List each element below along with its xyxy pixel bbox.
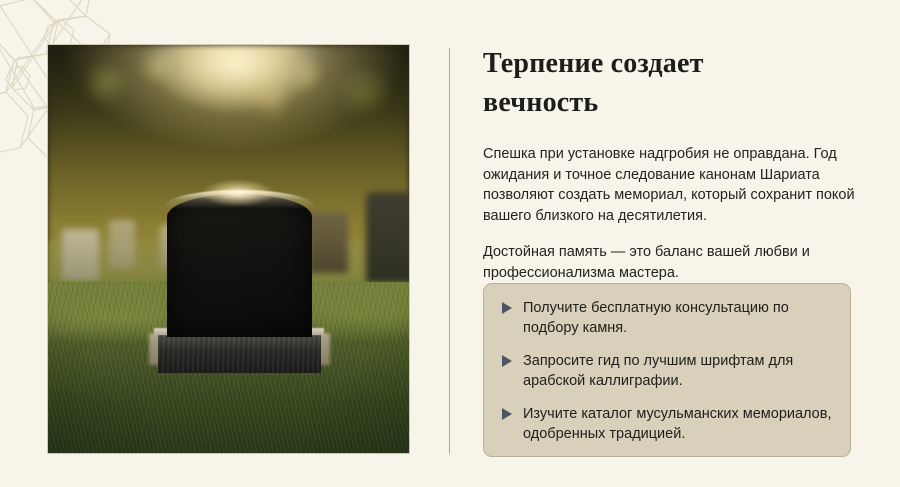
list-item-label: Получите бесплатную консультацию по подб… [523,298,832,338]
list-item[interactable]: Изучите каталог мусульманских мемориалов… [500,404,832,444]
cta-card: Получите бесплатную консультацию по подб… [483,283,851,457]
triangle-right-icon [502,302,512,314]
photo-vignette [48,45,409,453]
cemetery-headstone-photo [47,44,410,454]
text-column: Терпение создает вечность Спешка при уст… [483,44,855,301]
triangle-right-icon [502,355,512,367]
body-paragraph-2: Достойная память — это баланс вашей любв… [483,242,855,283]
vertical-divider [449,48,450,454]
body-paragraph-1: Спешка при установке надгробия не оправд… [483,144,855,226]
slide-root: Терпение создает вечность Спешка при уст… [0,0,900,487]
page-title: Терпение создает вечность [483,44,783,122]
photo-canvas [48,45,409,453]
list-item[interactable]: Запросите гид по лучшим шрифтам для араб… [500,351,832,391]
list-item-label: Запросите гид по лучшим шрифтам для араб… [523,351,832,391]
triangle-right-icon [502,408,512,420]
list-item-label: Изучите каталог мусульманских мемориалов… [523,404,832,444]
list-item[interactable]: Получите бесплатную консультацию по подб… [500,298,832,338]
